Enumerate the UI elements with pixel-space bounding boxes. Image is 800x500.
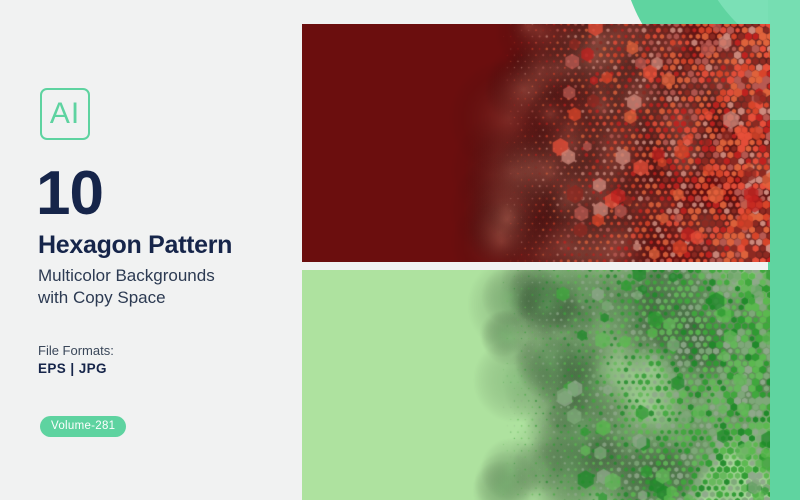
green-hexagon-pattern-canvas (302, 270, 770, 500)
page-subtitle-line-2: with Copy Space (38, 287, 293, 309)
mint-band-right-light (768, 0, 800, 120)
page-subtitle-line-1: Multicolor Backgrounds (38, 265, 293, 287)
info-column: AI 10 Hexagon Pattern Multicolor Backgro… (0, 0, 302, 500)
file-formats-value: EPS | JPG (38, 361, 107, 376)
item-count: 10 (36, 163, 103, 225)
poster-canvas: AI 10 Hexagon Pattern Multicolor Backgro… (0, 0, 800, 500)
file-formats-label: File Formats: (38, 343, 114, 358)
page-subtitle: Multicolor Backgrounds with Copy Space (38, 265, 293, 309)
page-title: Hexagon Pattern (38, 233, 232, 258)
adobe-illustrator-icon: AI (40, 88, 90, 140)
volume-badge: Volume-281 (40, 416, 126, 437)
ai-logo-label: AI (50, 99, 80, 129)
preview-panel-red[interactable] (302, 24, 770, 262)
red-hexagon-pattern-canvas (302, 24, 770, 262)
preview-panel-green[interactable] (302, 270, 770, 500)
